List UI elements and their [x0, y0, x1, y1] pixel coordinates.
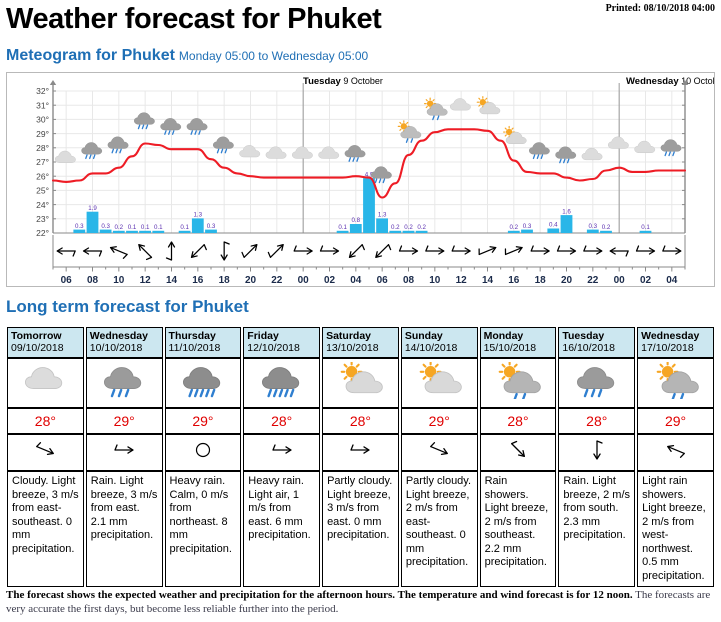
forecast-weather-icon — [558, 358, 635, 408]
table-header-row: Tomorrow09/10/2018Wednesday10/10/2018Thu… — [7, 327, 714, 358]
table-desc-row: Cloudy. Light breeze, 3 m/s from east-so… — [7, 471, 714, 587]
forecast-day-date: 12/10/2018 — [247, 342, 316, 354]
svg-text:23°: 23° — [36, 214, 49, 224]
forecast-description: Heavy rain. Light air, 1 m/s from east. … — [243, 471, 320, 587]
svg-text:0.2: 0.2 — [602, 224, 611, 231]
table-icon-row — [7, 358, 714, 408]
svg-text:25°: 25° — [36, 186, 49, 196]
svg-text:26°: 26° — [36, 171, 49, 181]
svg-text:22: 22 — [587, 275, 599, 286]
svg-text:18: 18 — [535, 275, 547, 286]
meteogram-heading-main: Meteogram for Phuket — [6, 47, 175, 64]
svg-text:0.1: 0.1 — [154, 224, 163, 231]
forecast-day-header: Wednesday10/10/2018 — [86, 327, 163, 358]
forecast-weather-icon — [480, 358, 557, 408]
forecast-weather-icon — [86, 358, 163, 408]
printed-timestamp: Printed: 08/10/2018 04:00 — [606, 3, 715, 14]
meteogram-svg: 22°23°24°25°26°27°28°29°30°31°32°0.31.90… — [7, 73, 715, 286]
svg-text:00: 00 — [298, 275, 310, 286]
forecast-weather-icon — [637, 358, 714, 408]
svg-text:31°: 31° — [36, 100, 49, 110]
svg-text:0.2: 0.2 — [509, 224, 518, 231]
long-term-forecast-table: Tomorrow09/10/2018Wednesday10/10/2018Thu… — [5, 327, 716, 587]
svg-text:14: 14 — [166, 275, 178, 286]
forecast-wind-arrow-icon — [637, 434, 714, 471]
forecast-temperature: 28° — [322, 408, 399, 434]
forecast-day-name: Tomorrow — [11, 330, 80, 342]
forecast-temperature: 28° — [480, 408, 557, 434]
svg-text:10: 10 — [429, 275, 441, 286]
svg-text:0.3: 0.3 — [207, 223, 216, 230]
forecast-temperature: 28° — [243, 408, 320, 434]
svg-text:02: 02 — [324, 275, 336, 286]
svg-text:0.4: 0.4 — [549, 222, 558, 229]
forecast-wind-arrow-icon — [480, 434, 557, 471]
forecast-day-header: Tuesday16/10/2018 — [558, 327, 635, 358]
forecast-day-header: Saturday13/10/2018 — [322, 327, 399, 358]
svg-text:0.1: 0.1 — [180, 224, 189, 231]
forecast-description: Heavy rain. Calm, 0 m/s from northeast. … — [165, 471, 242, 587]
long-term-heading: Long term forecast for Phuket — [6, 297, 249, 317]
svg-text:0.8: 0.8 — [351, 217, 360, 224]
meteogram-heading-sub: Monday 05:00 to Wednesday 05:00 — [179, 49, 368, 63]
forecast-day-name: Friday — [247, 330, 316, 342]
svg-text:1.6: 1.6 — [562, 208, 571, 215]
forecast-weather-icon — [7, 358, 84, 408]
svg-text:16: 16 — [192, 275, 204, 286]
forecast-day-header: Tomorrow09/10/2018 — [7, 327, 84, 358]
forecast-day-header: Friday12/10/2018 — [243, 327, 320, 358]
footer-note: The forecast shows the expected weather … — [6, 588, 712, 616]
forecast-temperature: 29° — [86, 408, 163, 434]
forecast-day-name: Thursday — [169, 330, 238, 342]
forecast-day-date: 14/10/2018 — [405, 342, 474, 354]
forecast-temperature: 28° — [7, 408, 84, 434]
svg-text:14: 14 — [482, 275, 494, 286]
forecast-day-date: 10/10/2018 — [90, 342, 159, 354]
forecast-wind-arrow-icon — [7, 434, 84, 471]
forecast-temperature: 29° — [401, 408, 478, 434]
svg-text:0.3: 0.3 — [75, 223, 84, 230]
svg-text:29°: 29° — [36, 129, 49, 139]
forecast-day-header: Thursday11/10/2018 — [165, 327, 242, 358]
svg-text:20: 20 — [561, 275, 573, 286]
svg-text:0.3: 0.3 — [523, 223, 532, 230]
svg-text:0.1: 0.1 — [128, 224, 137, 231]
forecast-description: Light rain showers. Light breeze, 2 m/s … — [637, 471, 714, 587]
forecast-day-header: Monday15/10/2018 — [480, 327, 557, 358]
svg-text:1.9: 1.9 — [88, 205, 97, 212]
svg-text:08: 08 — [87, 275, 99, 286]
forecast-day-name: Tuesday — [562, 330, 631, 342]
svg-text:24°: 24° — [36, 200, 49, 210]
svg-text:32°: 32° — [36, 86, 49, 96]
svg-text:0.2: 0.2 — [404, 224, 413, 231]
svg-text:0.1: 0.1 — [141, 224, 150, 231]
forecast-description: Partly cloudy. Light breeze, 2 m/s from … — [401, 471, 478, 587]
meteogram-heading: Meteogram for PhuketMonday 05:00 to Wedn… — [6, 47, 368, 65]
table-temp-row: 28°29°29°28°28°29°28°28°29° — [7, 408, 714, 434]
forecast-day-date: 13/10/2018 — [326, 342, 395, 354]
svg-text:0.2: 0.2 — [114, 224, 123, 231]
forecast-wind-arrow-icon — [165, 434, 242, 471]
forecast-temperature: 29° — [165, 408, 242, 434]
weather-forecast-page: Printed: 08/10/2018 04:00 Weather foreca… — [0, 0, 721, 622]
forecast-description: Rain showers. Light breeze, 2 m/s from s… — [480, 471, 557, 587]
svg-text:20: 20 — [245, 275, 257, 286]
forecast-weather-icon — [401, 358, 478, 408]
svg-text:08: 08 — [403, 275, 415, 286]
forecast-day-name: Saturday — [326, 330, 395, 342]
svg-text:0.1: 0.1 — [641, 224, 650, 231]
svg-text:28°: 28° — [36, 143, 49, 153]
forecast-wind-arrow-icon — [86, 434, 163, 471]
forecast-day-date: 09/10/2018 — [11, 342, 80, 354]
svg-text:0.1: 0.1 — [338, 224, 347, 231]
forecast-wind-arrow-icon — [243, 434, 320, 471]
forecast-day-name: Wednesday — [90, 330, 159, 342]
svg-text:30°: 30° — [36, 115, 49, 125]
page-title: Weather forecast for Phuket — [6, 2, 381, 36]
svg-text:02: 02 — [640, 275, 652, 286]
svg-text:0.2: 0.2 — [417, 224, 426, 231]
forecast-day-date: 15/10/2018 — [484, 342, 553, 354]
table-wind-row — [7, 434, 714, 471]
svg-text:22: 22 — [271, 275, 283, 286]
forecast-day-name: Monday — [484, 330, 553, 342]
svg-text:12: 12 — [456, 275, 468, 286]
svg-text:16: 16 — [508, 275, 520, 286]
svg-text:04: 04 — [666, 275, 678, 286]
svg-text:0.2: 0.2 — [391, 224, 400, 231]
forecast-temperature: 29° — [637, 408, 714, 434]
forecast-day-header: Sunday14/10/2018 — [401, 327, 478, 358]
forecast-wind-arrow-icon — [322, 434, 399, 471]
forecast-weather-icon — [243, 358, 320, 408]
meteogram-chart: Tuesday 9 October Wednesday 10 Octob 22°… — [6, 72, 715, 287]
svg-text:06: 06 — [377, 275, 389, 286]
forecast-weather-icon — [322, 358, 399, 408]
forecast-description: Rain. Light breeze, 3 m/s from east. 2.1… — [86, 471, 163, 587]
svg-text:0.3: 0.3 — [588, 223, 597, 230]
svg-text:00: 00 — [614, 275, 626, 286]
forecast-day-header: Wednesday17/10/2018 — [637, 327, 714, 358]
svg-text:1.3: 1.3 — [193, 212, 202, 219]
svg-text:27°: 27° — [36, 157, 49, 167]
svg-text:1.3: 1.3 — [378, 212, 387, 219]
forecast-wind-arrow-icon — [558, 434, 635, 471]
forecast-day-date: 16/10/2018 — [562, 342, 631, 354]
svg-text:04: 04 — [350, 275, 362, 286]
forecast-weather-icon — [165, 358, 242, 408]
forecast-day-name: Sunday — [405, 330, 474, 342]
forecast-wind-arrow-icon — [401, 434, 478, 471]
svg-text:22°: 22° — [36, 228, 49, 238]
footer-note-bold: The forecast shows the expected weather … — [6, 589, 633, 601]
forecast-temperature: 28° — [558, 408, 635, 434]
svg-text:0.3: 0.3 — [101, 223, 110, 230]
forecast-description: Cloudy. Light breeze, 3 m/s from east-so… — [7, 471, 84, 587]
forecast-day-name: Wednesday — [641, 330, 710, 342]
svg-text:18: 18 — [219, 275, 231, 286]
forecast-day-date: 17/10/2018 — [641, 342, 710, 354]
forecast-description: Partly cloudy. Light breeze, 3 m/s from … — [322, 471, 399, 587]
svg-text:12: 12 — [140, 275, 152, 286]
forecast-day-date: 11/10/2018 — [169, 342, 238, 354]
forecast-description: Rain. Light breeze, 2 m/s from south. 2.… — [558, 471, 635, 587]
svg-text:10: 10 — [113, 275, 125, 286]
svg-text:06: 06 — [61, 275, 73, 286]
